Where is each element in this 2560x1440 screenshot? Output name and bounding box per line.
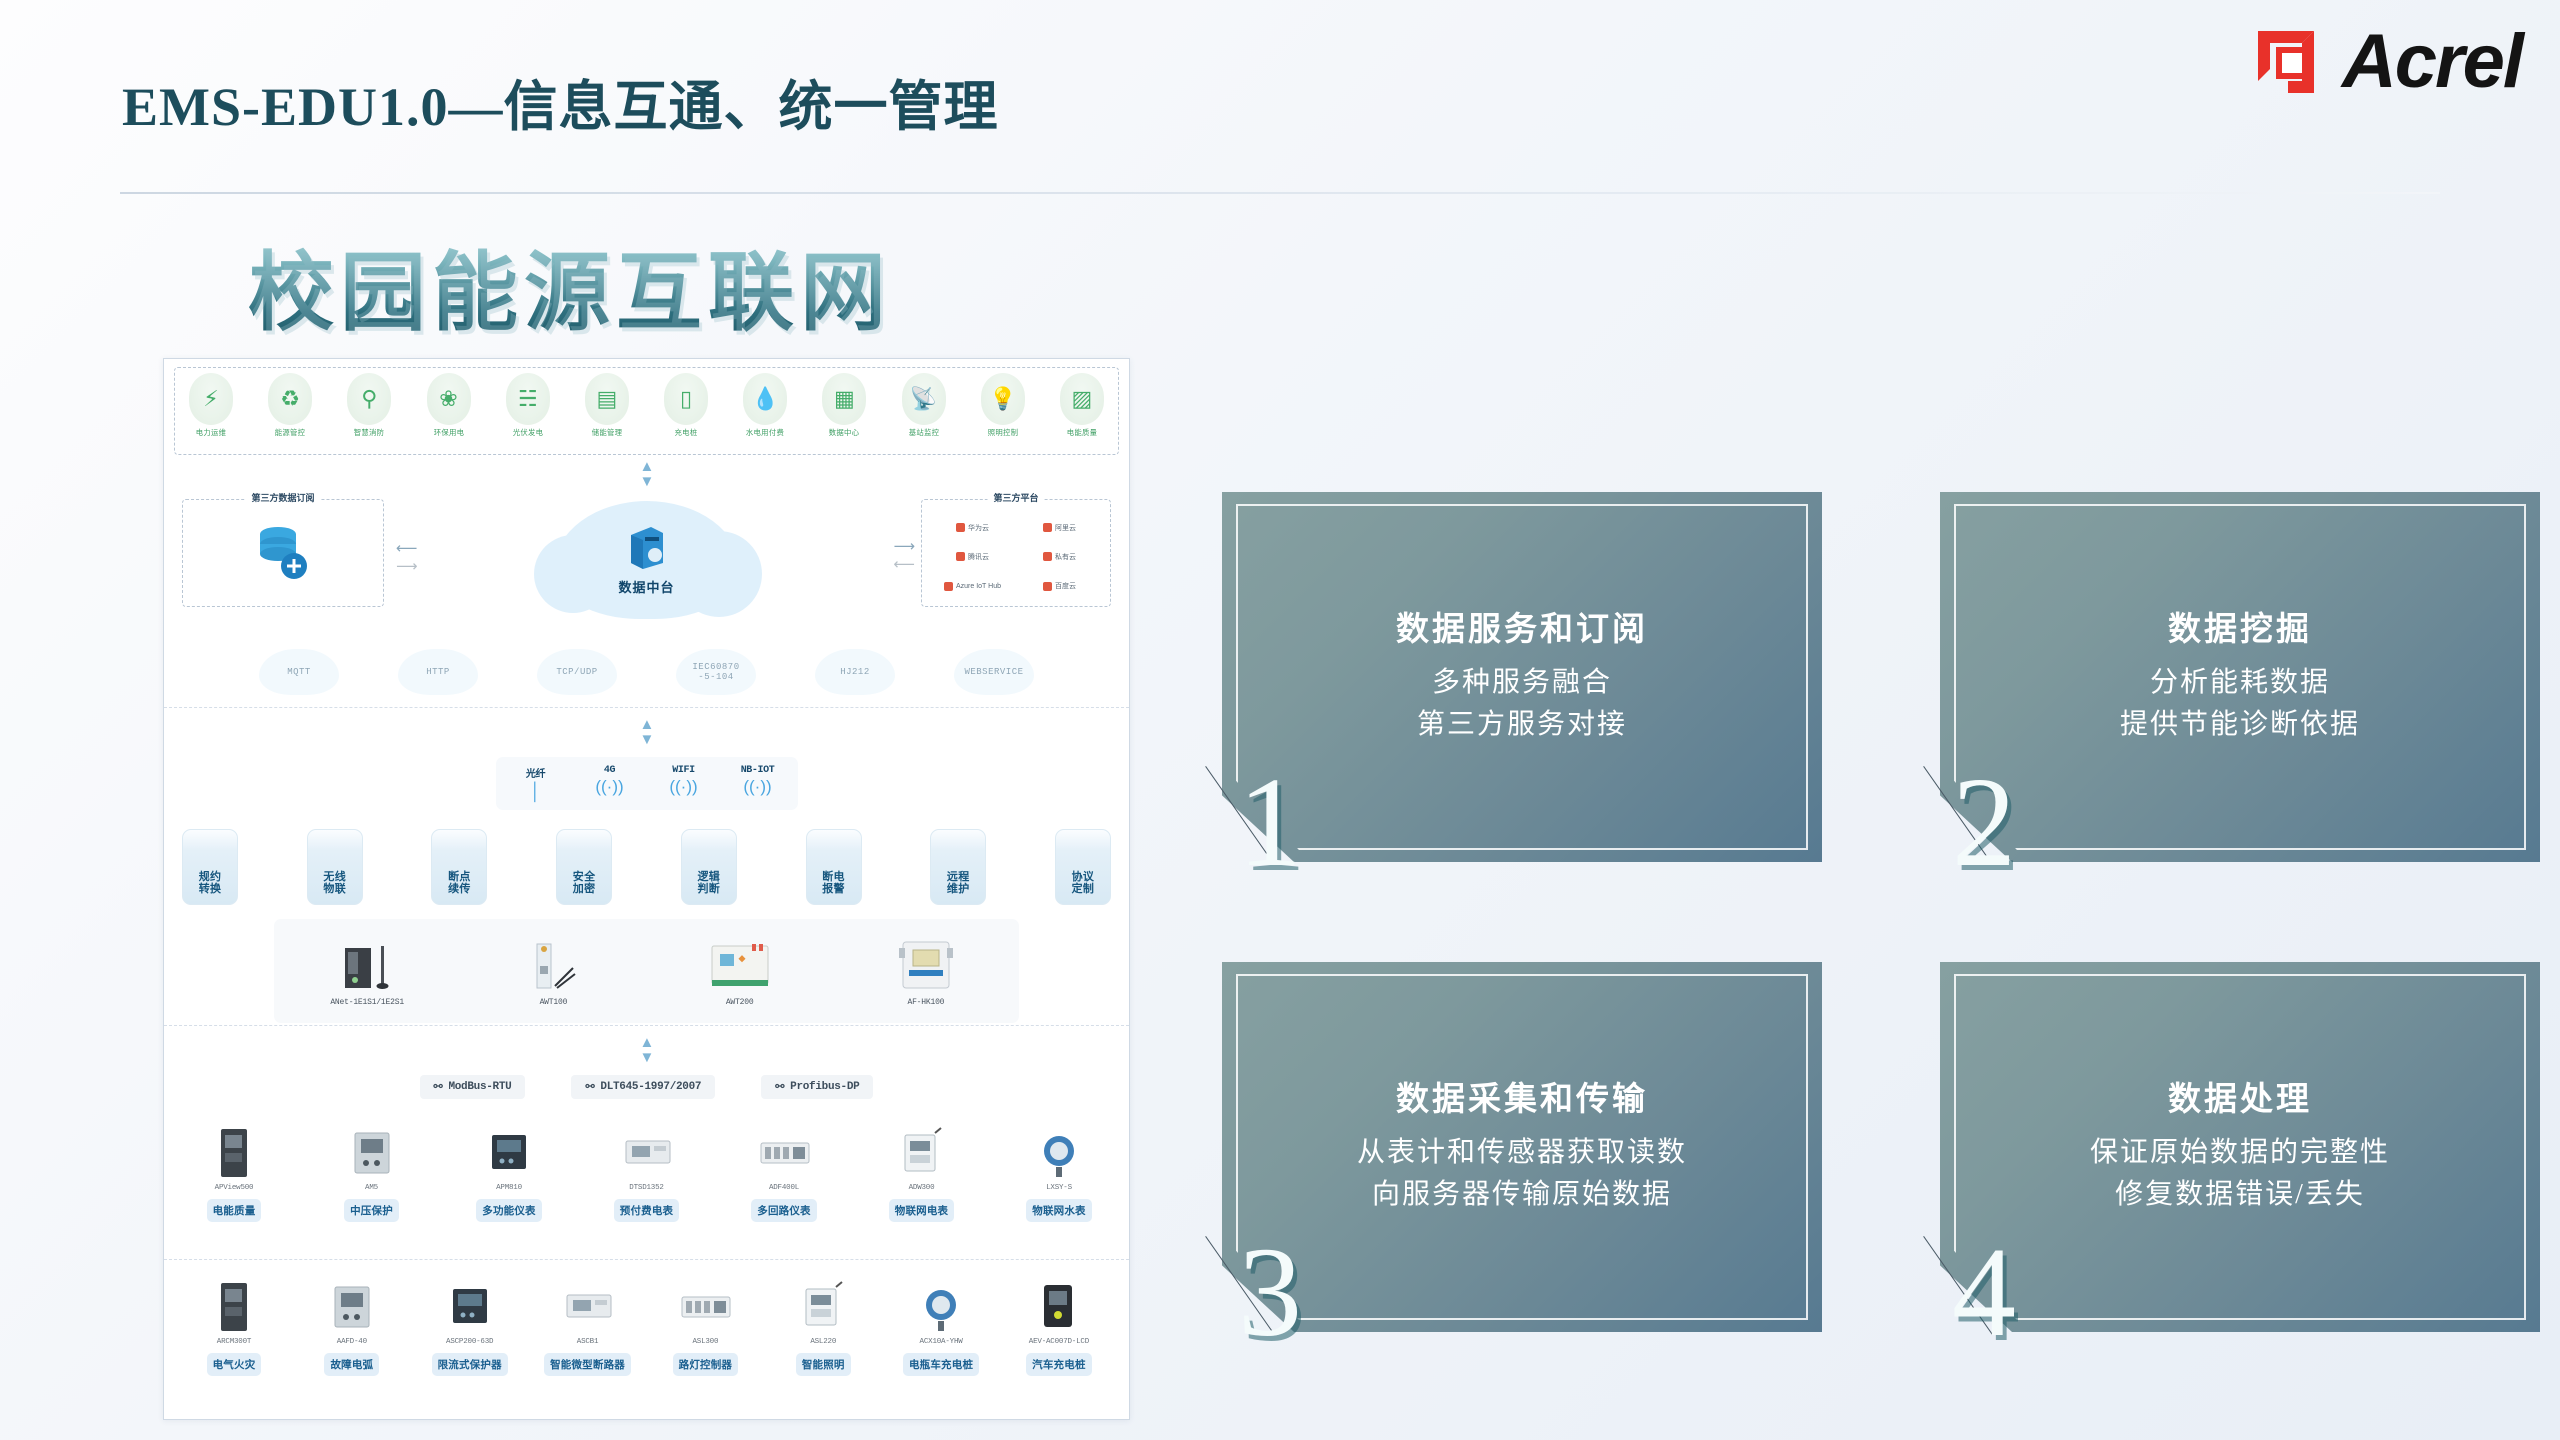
network-type-label: 光纤 (514, 765, 558, 781)
wifi-signal-icon: ((·)) (588, 778, 632, 797)
divider-network-layer (164, 707, 1129, 708)
card-4-title: 数据处理 (1940, 1072, 2540, 1120)
gateway-model: ANet-1E1S1/1E2S1 (292, 998, 442, 1007)
third-party-cloud-item: Azure IoT Hub (930, 573, 1015, 600)
device-photo-icon (316, 1121, 428, 1179)
acrel-logo-text: Acrel (2342, 18, 2522, 105)
device-photo-icon (532, 1275, 644, 1333)
card-1-line-2: 第三方服务对接 (1222, 704, 1822, 746)
gateway-device-box: ANet-1E1S1/1E2S1 AWT100 (274, 919, 1019, 1023)
link-icon: ⚯ (585, 1080, 594, 1094)
bus-protocol-label: Profibus-DP (790, 1081, 859, 1093)
device-model: APView500 (178, 1184, 290, 1192)
device-model: ADW300 (866, 1184, 978, 1192)
power-quality-icon: ▨ (1060, 373, 1104, 425)
device-item[interactable]: ASL300路灯控制器 (649, 1275, 761, 1376)
device-tag: 路灯控制器 (673, 1353, 739, 1376)
application-icon-label: 储能管理 (575, 427, 639, 437)
application-icon-label: 充电桩 (654, 427, 718, 437)
bus-protocol-chip: ⚯Profibus-DP (761, 1075, 873, 1099)
device-tag: 中压保护 (344, 1199, 399, 1222)
application-icon-item[interactable]: ❀环保用电 (414, 373, 484, 438)
application-icon-row: ⚡电力运维♻能源管控⚲智慧消防❀环保用电☵光伏发电▤储能管理▯充电桩💧水电用付费… (176, 373, 1117, 438)
gateway-awt100-icon (478, 936, 628, 992)
device-tag: 故障电弧 (324, 1353, 379, 1376)
device-photo-icon (178, 1275, 290, 1333)
gateway-afhk100-icon (851, 936, 1001, 992)
application-icon-label: 照明控制 (971, 427, 1035, 437)
application-icon-item[interactable]: ♻能源管控 (255, 373, 325, 438)
capability-label: 远程 维护 (947, 871, 970, 896)
device-tag: 智能微型断路器 (544, 1353, 631, 1376)
bus-protocol-label: DLT645-1997/2007 (600, 1081, 701, 1093)
device-tag: 物联网电表 (889, 1199, 955, 1222)
cloud-vendor-label: 百度云 (1055, 581, 1076, 591)
device-tag: 多功能仪表 (476, 1199, 542, 1222)
card-2-line-2: 提供节能诊断依据 (1940, 704, 2540, 746)
capability-item[interactable]: 远程 维护 (930, 829, 986, 905)
device-photo-icon (767, 1275, 879, 1333)
capability-label: 无线 物联 (323, 871, 346, 896)
capability-item[interactable]: 协议 定制 (1055, 829, 1111, 905)
device-model: ACX10A-YHW (885, 1338, 997, 1346)
cloud-vendor-label: 阿里云 (1055, 523, 1076, 533)
divider-device-rows (164, 1259, 1129, 1260)
device-tag: 电气火灾 (207, 1353, 262, 1376)
section-heading: 校园能源互联网 (248, 222, 892, 347)
cloud-vendor-label: Azure IoT Hub (956, 583, 1001, 590)
application-icon-label: 环保用电 (416, 427, 480, 437)
page-title: EMS-EDU1.0—信息互通、统一管理 (122, 62, 999, 141)
device-tag: 限流式保护器 (432, 1353, 508, 1376)
capability-label: 逻辑 判断 (698, 871, 721, 896)
energy-control-icon: ♻ (268, 373, 312, 425)
gateway-item: AWT100 (478, 936, 628, 1007)
device-photo-icon (1003, 1275, 1115, 1333)
application-icon-label: 电力运维 (179, 427, 243, 437)
capability-label: 断电 报警 (822, 871, 845, 896)
application-icon-item[interactable]: ▯充电桩 (651, 373, 721, 438)
card-4[interactable]: 数据处理 保证原始数据的完整性 修复数据错误/丢失 (1940, 962, 2540, 1332)
acrel-logo-mark-icon (2254, 25, 2328, 99)
cloud-vendor-label: 华为云 (968, 523, 989, 533)
card-3-line-1: 从表计和传感器获取读数 (1222, 1132, 1822, 1174)
third-party-subscription-box: 第三方数据订阅 (182, 499, 384, 607)
server-icon (627, 525, 667, 571)
protocol-cloud-item: MQTT (259, 649, 339, 695)
device-photo-icon (885, 1275, 997, 1333)
device-item[interactable]: ASCP200-63D限流式保护器 (414, 1275, 526, 1376)
card-2-body: 数据挖掘 分析能耗数据 提供节能诊断依据 (1940, 602, 2540, 746)
device-model: AM5 (316, 1184, 428, 1192)
data-center-icon: ▦ (822, 373, 866, 425)
application-icon-item[interactable]: ⚡电力运维 (176, 373, 246, 438)
arrow-left-platform: ⟵ (893, 557, 915, 572)
card-1-line-1: 多种服务融合 (1222, 662, 1822, 704)
capability-label: 安全 加密 (573, 871, 596, 896)
capability-label: 规约 转换 (199, 871, 222, 896)
card-4-line-2: 修复数据错误/丢失 (1940, 1174, 2540, 1216)
device-item[interactable]: ADW300物联网电表 (866, 1121, 978, 1222)
gateway-model: AWT200 (665, 998, 815, 1007)
protocol-cloud-item: HJ212 (815, 649, 895, 695)
device-photo-icon (414, 1275, 526, 1333)
application-icon-item[interactable]: ▦数据中心 (809, 373, 879, 438)
card-3[interactable]: 数据采集和传输 从表计和传感器获取读数 向服务器传输原始数据 (1222, 962, 1822, 1332)
wifi-signal-icon: ((·)) (662, 778, 706, 797)
application-icon-item[interactable]: 📡基站监控 (889, 373, 959, 438)
device-photo-icon (728, 1121, 840, 1179)
gateway-awt200-icon (665, 936, 815, 992)
gateway-item: AWT200 (665, 936, 815, 1007)
gateway-model: AWT100 (478, 998, 628, 1007)
capability-item[interactable]: 断点 续传 (431, 829, 487, 905)
device-tag: 物联网水表 (1026, 1199, 1092, 1222)
network-type-label: 4G (588, 765, 632, 776)
cloud-vendor-icon (956, 552, 965, 561)
cloud-vendor-icon (956, 523, 965, 532)
device-model: LXSY-S (1003, 1184, 1115, 1192)
application-icon-item[interactable]: 💡照明控制 (968, 373, 1038, 438)
fiber-icon: │ (514, 783, 558, 802)
application-icon-label: 数据中心 (812, 427, 876, 437)
network-type-label: NB-IOT (736, 765, 780, 776)
third-party-cloud-list: 华为云阿里云腾讯云私有云Azure IoT Hub百度云 (930, 514, 1102, 600)
third-party-cloud-item: 私有云 (1017, 543, 1102, 570)
device-tag: 电瓶车充电桩 (903, 1353, 979, 1376)
third-party-cloud-item: 腾讯云 (930, 543, 1015, 570)
arrow-up-down-bus: ▲▼ (640, 1035, 654, 1065)
card-3-body: 数据采集和传输 从表计和传感器获取读数 向服务器传输原始数据 (1222, 1072, 1822, 1216)
wifi-signal-icon: ((·)) (736, 778, 780, 797)
bus-protocol-label: ModBus-RTU (448, 1081, 511, 1093)
device-item[interactable]: AAFD-40故障电弧 (296, 1275, 408, 1376)
third-party-platform-box: 第三方平台 华为云阿里云腾讯云私有云Azure IoT Hub百度云 (921, 499, 1111, 607)
network-type-item: 光纤│ (514, 765, 558, 802)
protocol-cloud-item: WEBSERVICE (954, 649, 1034, 695)
application-icon-label: 水电用付费 (733, 427, 797, 437)
device-photo-icon (866, 1121, 978, 1179)
bus-protocol-bar: ⚯ModBus-RTU⚯DLT645-1997/2007⚯Profibus-DP (164, 1075, 1129, 1099)
third-party-cloud-item: 华为云 (930, 514, 1015, 541)
capability-row: 规约 转换无线 物联断点 续传安全 加密逻辑 判断断电 报警远程 维护协议 定制 (182, 829, 1111, 905)
charging-pile-icon: ▯ (664, 373, 708, 425)
device-tag: 预付费电表 (614, 1199, 680, 1222)
smart-fire-icon: ⚲ (347, 373, 391, 425)
third-party-cloud-item: 百度云 (1017, 573, 1102, 600)
capability-item[interactable]: 安全 加密 (556, 829, 612, 905)
device-model: ARCM300T (178, 1338, 290, 1346)
protocol-cloud-item: IEC60870 -5-104 (676, 649, 756, 695)
capability-item[interactable]: 断电 报警 (806, 829, 862, 905)
third-party-platform-title: 第三方平台 (987, 491, 1044, 504)
network-type-box: 光纤│4G((·))WIFI((·))NB-IOT((·)) (496, 757, 798, 810)
device-photo-icon (591, 1121, 703, 1179)
storage-mgmt-icon: ▤ (585, 373, 629, 425)
cloud-vendor-label: 私有云 (1055, 552, 1076, 562)
application-icon-label: 电能质量 (1050, 427, 1114, 437)
gateway-anet-icon (292, 936, 442, 992)
eco-power-icon: ❀ (427, 373, 471, 425)
device-model: AEV-AC007D-LCD (1003, 1338, 1115, 1346)
application-icon-label: 光伏发电 (495, 427, 559, 437)
device-photo-icon (178, 1121, 290, 1179)
device-photo-icon (296, 1275, 408, 1333)
protocol-cloud-item: TCP/UDP (537, 649, 617, 695)
arrow-up-down-apps: ▲▼ (640, 459, 654, 489)
cloud-vendor-icon (1043, 582, 1052, 591)
application-icon-item[interactable]: ⚲智慧消防 (334, 373, 404, 438)
cloud-vendor-icon (1043, 552, 1052, 561)
capability-item[interactable]: 规约 转换 (182, 829, 238, 905)
divider-device-layer (164, 1025, 1129, 1026)
device-row-2: ARCM300T电气火灾AAFD-40故障电弧ASCP200-63D限流式保护器… (178, 1275, 1115, 1376)
capability-label: 断点 续传 (448, 871, 471, 896)
card-1[interactable]: 数据服务和订阅 多种服务融合 第三方服务对接 (1222, 492, 1822, 862)
card-3-title: 数据采集和传输 (1222, 1072, 1822, 1120)
device-tag: 汽车充电桩 (1026, 1353, 1092, 1376)
device-model: ASCB1 (532, 1338, 644, 1346)
application-icon-item[interactable]: 💧水电用付费 (730, 373, 800, 438)
application-icon-item[interactable]: ▤储能管理 (572, 373, 642, 438)
gateway-item: AF-HK100 (851, 936, 1001, 1007)
photovoltaic-icon: ☵ (506, 373, 550, 425)
application-icon-label: 智慧消防 (337, 427, 401, 437)
application-icon-item[interactable]: ▨电能质量 (1047, 373, 1117, 438)
card-3-line-2: 向服务器传输原始数据 (1222, 1174, 1822, 1216)
device-item[interactable]: DTSD1352预付费电表 (591, 1121, 703, 1222)
device-model: APM810 (453, 1184, 565, 1192)
bus-protocol-chip: ⚯ModBus-RTU (420, 1075, 526, 1099)
network-type-label: WIFI (662, 765, 706, 776)
network-type-item: 4G((·)) (588, 765, 632, 802)
capability-label: 协议 定制 (1072, 871, 1095, 896)
database-icon (254, 522, 312, 584)
arrow-up-down-network: ▲▼ (640, 717, 654, 747)
device-item[interactable]: ADF400L多回路仪表 (728, 1121, 840, 1222)
device-item[interactable]: APM810多功能仪表 (453, 1121, 565, 1222)
device-item[interactable]: LXSY-S物联网水表 (1003, 1121, 1115, 1222)
arrow-right-subscription: ⟶ (396, 559, 418, 574)
capability-item[interactable]: 无线 物联 (307, 829, 363, 905)
application-icon-item[interactable]: ☵光伏发电 (493, 373, 563, 438)
header-divider (120, 192, 2440, 194)
protocol-cloud-item: HTTP (398, 649, 478, 695)
device-row-1: APView500电能质量AM5中压保护APM810多功能仪表DTSD1352预… (178, 1121, 1115, 1222)
device-model: ASL300 (649, 1338, 761, 1346)
protocol-cloud-row: MQTTHTTPTCP/UDPIEC60870 -5-104HJ212WEBSE… (259, 649, 1034, 695)
device-tag: 电能质量 (207, 1199, 262, 1222)
device-item[interactable]: ACX10A-YHW电瓶车充电桩 (885, 1275, 997, 1376)
application-icon-label: 基站监控 (891, 427, 955, 437)
device-photo-icon (1003, 1121, 1115, 1179)
card-1-title: 数据服务和订阅 (1222, 602, 1822, 650)
device-item[interactable]: AEV-AC007D-LCD汽车充电桩 (1003, 1275, 1115, 1376)
link-icon: ⚯ (434, 1080, 443, 1094)
card-2[interactable]: 数据挖掘 分析能耗数据 提供节能诊断依据 (1940, 492, 2540, 862)
device-tag: 多回路仪表 (751, 1199, 817, 1222)
network-type-item: WIFI((·)) (662, 765, 706, 802)
device-photo-icon (453, 1121, 565, 1179)
third-party-subscription-title: 第三方数据订阅 (245, 491, 320, 504)
card-2-title: 数据挖掘 (1940, 602, 2540, 650)
device-item[interactable]: AM5中压保护 (316, 1121, 428, 1222)
device-item[interactable]: ASCB1智能微型断路器 (532, 1275, 644, 1376)
device-model: DTSD1352 (591, 1184, 703, 1192)
device-item[interactable]: ARCM300T电气火灾 (178, 1275, 290, 1376)
device-model: ADF400L (728, 1184, 840, 1192)
power-ops-icon: ⚡ (189, 373, 233, 425)
card-2-line-1: 分析能耗数据 (1940, 662, 2540, 704)
base-station-icon: 📡 (902, 373, 946, 425)
card-4-body: 数据处理 保证原始数据的完整性 修复数据错误/丢失 (1940, 1072, 2540, 1216)
device-photo-icon (649, 1275, 761, 1333)
third-party-cloud-item: 阿里云 (1017, 514, 1102, 541)
arrow-right-platform: ⟶ (893, 539, 915, 554)
device-item[interactable]: APView500电能质量 (178, 1121, 290, 1222)
card-4-line-1: 保证原始数据的完整性 (1940, 1132, 2540, 1174)
device-item[interactable]: ASL220智能照明 (767, 1275, 879, 1376)
gateway-model: AF-HK100 (851, 998, 1001, 1007)
device-model: AAFD-40 (296, 1338, 408, 1346)
arrow-left-subscription: ⟵ (396, 541, 418, 556)
water-power-pay-icon: 💧 (743, 373, 787, 425)
application-icon-label: 能源管控 (258, 427, 322, 437)
bus-protocol-chip: ⚯DLT645-1997/2007 (571, 1075, 715, 1099)
gateway-item: ANet-1E1S1/1E2S1 (292, 936, 442, 1007)
acrel-logo: Acrel (2254, 18, 2522, 105)
cloud-vendor-icon (944, 582, 953, 591)
cloud-vendor-icon (1043, 523, 1052, 532)
cloud-vendor-label: 腾讯云 (968, 552, 989, 562)
card-1-body: 数据服务和订阅 多种服务融合 第三方服务对接 (1222, 602, 1822, 746)
architecture-diagram: ⚡电力运维♻能源管控⚲智慧消防❀环保用电☵光伏发电▤储能管理▯充电桩💧水电用付费… (163, 358, 1130, 1420)
network-type-item: NB-IOT((·)) (736, 765, 780, 802)
device-model: ASCP200-63D (414, 1338, 526, 1346)
device-tag: 智能照明 (796, 1353, 851, 1376)
capability-item[interactable]: 逻辑 判断 (681, 829, 737, 905)
data-platform-cloud: 数据中台 (554, 501, 740, 619)
data-platform-label: 数据中台 (618, 577, 674, 596)
lighting-control-icon: 💡 (981, 373, 1025, 425)
device-model: ASL220 (767, 1338, 879, 1346)
link-icon: ⚯ (775, 1080, 784, 1094)
